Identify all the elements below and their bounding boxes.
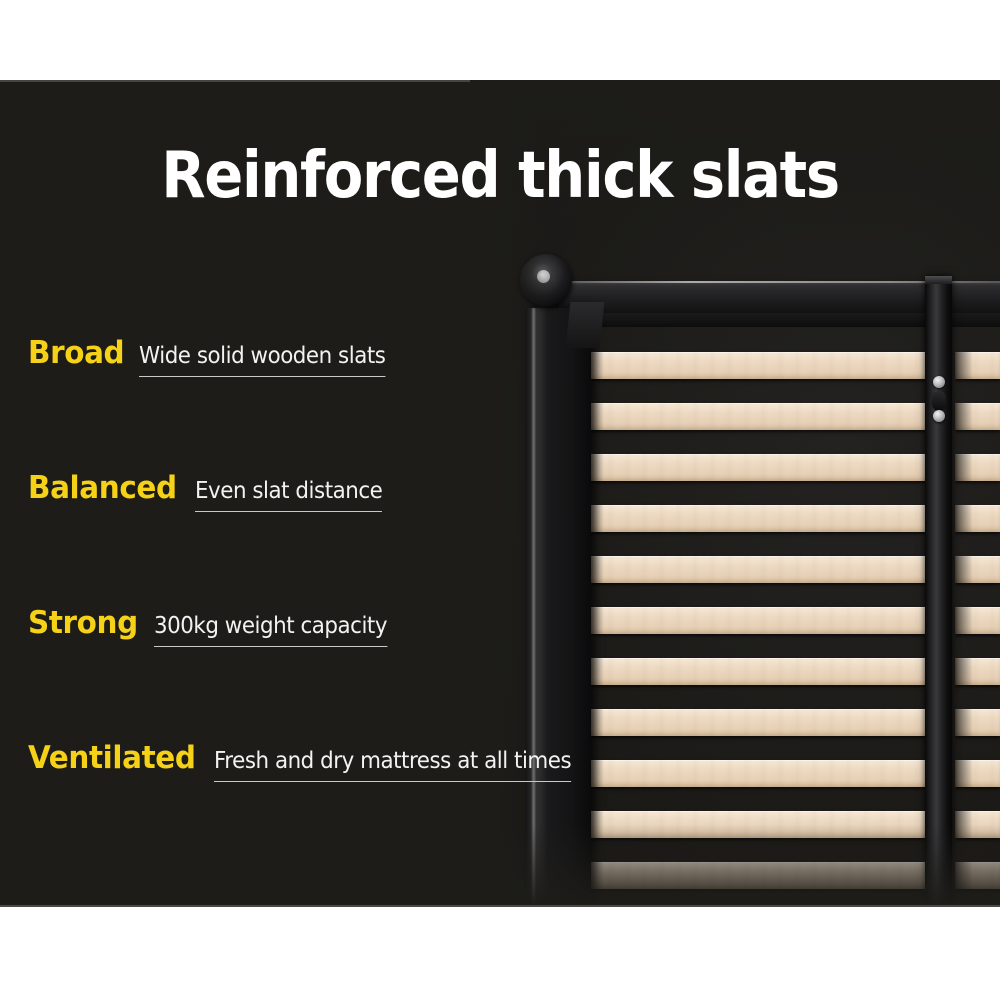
- feature-list: BroadWide solid wooden slatsBalancedEven…: [28, 335, 548, 875]
- wooden-slat: [590, 454, 935, 481]
- wooden-slat: [590, 658, 935, 685]
- feature-description: Even slat distance: [195, 478, 382, 512]
- wooden-slat: [955, 454, 1000, 481]
- feature-term: Strong: [28, 605, 138, 641]
- center-bar-hinge-icon: [932, 391, 946, 411]
- wooden-slat: [955, 760, 1000, 787]
- product-feature-banner: Reinforced thick slats BroadWide solid w…: [0, 0, 1000, 1000]
- wooden-slat: [590, 607, 935, 634]
- frame-center-support-cap: [925, 276, 952, 284]
- feature-item: Strong300kg weight capacity: [28, 605, 548, 740]
- wooden-slat: [955, 505, 1000, 532]
- feature-item: VentilatedFresh and dry mattress at all …: [28, 740, 548, 875]
- wooden-slat: [955, 607, 1000, 634]
- dark-banner-panel: Reinforced thick slats BroadWide solid w…: [0, 80, 1000, 907]
- wooden-slat: [590, 403, 935, 430]
- wooden-slat: [955, 403, 1000, 430]
- feature-description: Fresh and dry mattress at all times: [214, 748, 571, 782]
- slat-bed-right: [955, 282, 1000, 907]
- frame-center-support-bar: [925, 276, 952, 907]
- frame-corner-bracket: [566, 302, 605, 348]
- page-title: Reinforced thick slats: [50, 144, 950, 208]
- wooden-slat: [590, 709, 935, 736]
- wooden-slat: [955, 556, 1000, 583]
- slat-bed-left: [590, 282, 935, 907]
- corner-bolt-screw-icon: [537, 270, 550, 283]
- feature-description: 300kg weight capacity: [154, 613, 387, 647]
- wooden-slat: [590, 352, 935, 379]
- wooden-slat: [955, 352, 1000, 379]
- wooden-slat: [955, 811, 1000, 838]
- wooden-slat: [955, 658, 1000, 685]
- wooden-slat: [955, 709, 1000, 736]
- center-bar-screw-icon: [933, 410, 945, 422]
- feature-item: BroadWide solid wooden slats: [28, 335, 548, 470]
- wooden-slat: [590, 760, 935, 787]
- wooden-slat: [590, 811, 935, 838]
- wooden-slat: [955, 862, 1000, 889]
- wooden-slat: [590, 556, 935, 583]
- feature-term: Balanced: [28, 470, 177, 506]
- wooden-slat: [590, 862, 935, 889]
- feature-description: Wide solid wooden slats: [139, 343, 385, 377]
- feature-term: Ventilated: [28, 740, 196, 776]
- center-bar-screw-icon: [933, 376, 945, 388]
- wooden-slat: [590, 505, 935, 532]
- feature-item: BalancedEven slat distance: [28, 470, 548, 605]
- feature-term: Broad: [28, 335, 124, 371]
